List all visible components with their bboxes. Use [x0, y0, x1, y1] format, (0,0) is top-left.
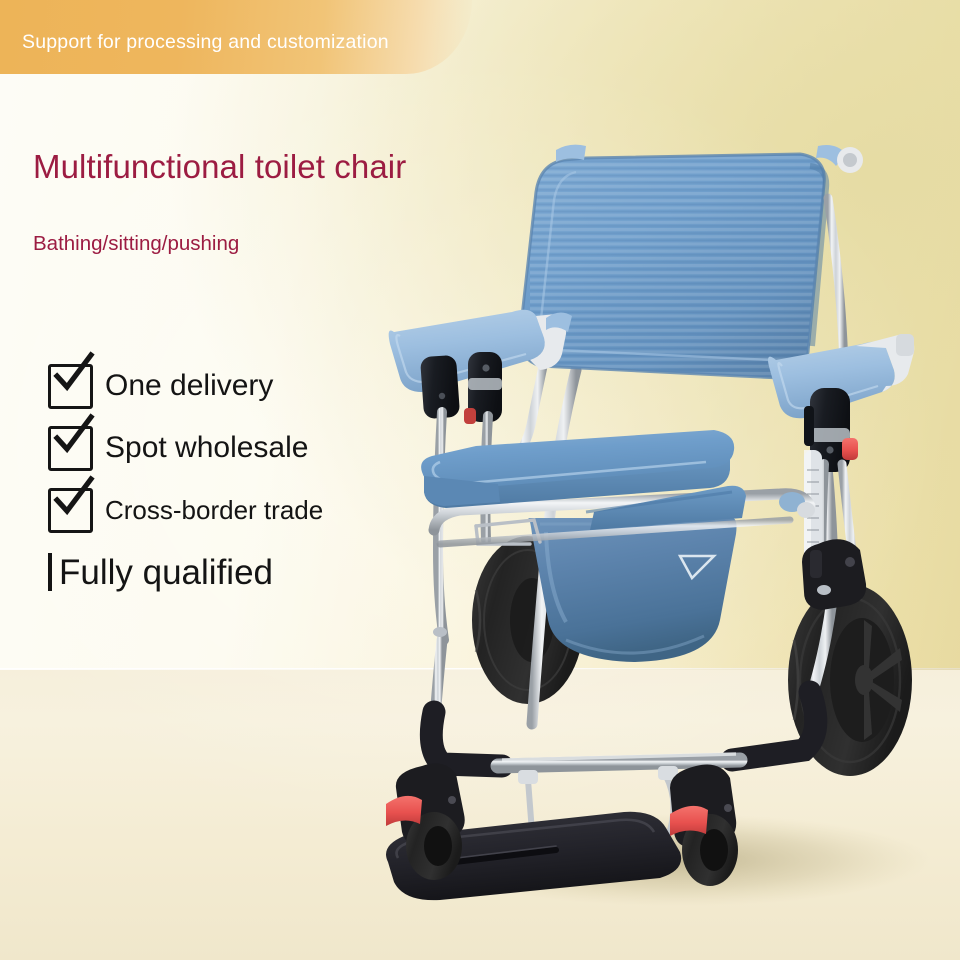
checkbox-checked-icon [48, 488, 93, 533]
base-crossbar [498, 754, 740, 766]
promo-image: Support for processing and customization… [0, 0, 960, 960]
page-subtitle: Bathing/sitting/pushing [33, 232, 239, 256]
list-item-label: Spot wholesale [105, 433, 308, 463]
checkbox-checked-icon [48, 426, 93, 471]
vertical-bar-icon [48, 553, 52, 591]
list-item: Cross-border trade [48, 482, 428, 538]
list-item: Spot wholesale [48, 420, 428, 476]
list-item-label: Fully qualified [59, 555, 273, 590]
product-image-commode-chair [380, 120, 960, 920]
rear-caster-bracket-right [802, 539, 866, 610]
banner-text: Support for processing and customization [22, 31, 389, 54]
commode-bucket [528, 518, 737, 662]
page-title: Multifunctional toilet chair [33, 148, 406, 186]
lower-leg-grips [431, 692, 815, 766]
list-item: One delivery [48, 358, 428, 414]
list-item-label: Cross-border trade [105, 497, 323, 523]
backrest [520, 150, 836, 386]
checkbox-checked-icon [48, 364, 93, 409]
top-banner: Support for processing and customization [0, 0, 472, 74]
list-item-label: One delivery [105, 371, 273, 401]
feature-list: One delivery Spot wholesale Cross-border… [48, 358, 428, 606]
list-item: Fully qualified [48, 544, 428, 600]
